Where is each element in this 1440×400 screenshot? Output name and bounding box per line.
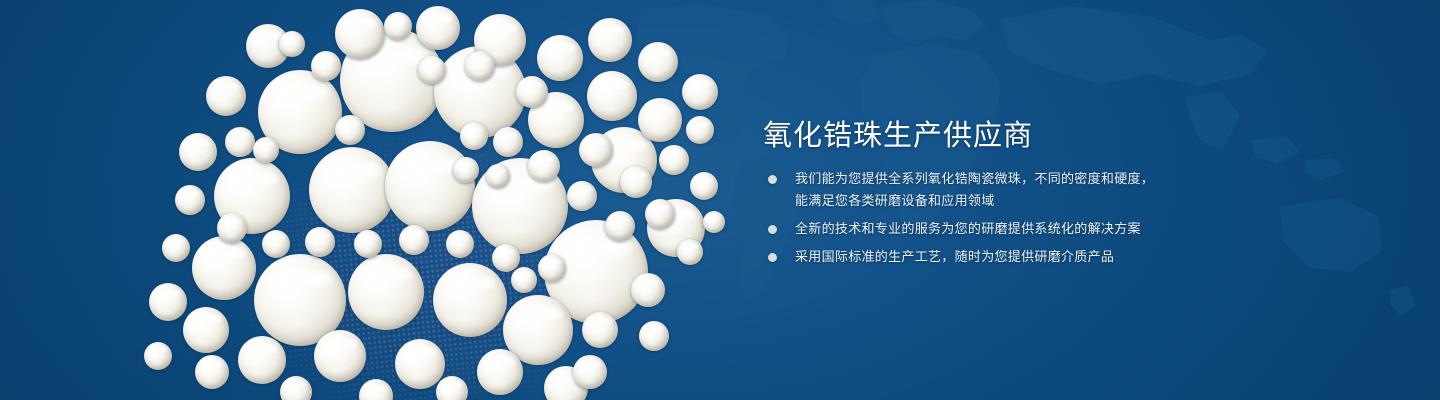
ceramic-bead xyxy=(639,321,669,351)
ceramic-bead xyxy=(280,376,312,400)
ceramic-bead xyxy=(486,164,510,188)
ceramic-bead xyxy=(690,172,718,200)
ceramic-bead xyxy=(144,342,172,370)
ceramic-bead xyxy=(579,133,613,167)
ceramic-bead xyxy=(677,239,703,265)
ceramic-bead xyxy=(175,185,205,215)
ceramic-bead xyxy=(638,42,678,82)
ceramic-bead xyxy=(465,51,495,81)
zirconia-bead-cluster-image xyxy=(0,0,760,400)
ceramic-bead xyxy=(477,349,523,395)
ceramic-bead xyxy=(385,141,475,231)
ceramic-bead xyxy=(511,267,537,293)
ceramic-bead xyxy=(262,230,290,258)
ceramic-bead xyxy=(436,376,468,400)
ceramic-bead xyxy=(314,330,366,382)
list-item: 全新的技术和专业的服务为您的研磨提供系统化的解决方案 xyxy=(768,218,1154,240)
ceramic-bead xyxy=(537,35,583,81)
ceramic-bead xyxy=(645,199,675,229)
ceramic-bead xyxy=(309,147,395,233)
ceramic-bead xyxy=(516,76,548,108)
bullet-line-primary: 我们能为您提供全系列氧化锆陶瓷微珠，不同的密度和硬度， xyxy=(795,168,1154,190)
ceramic-bead xyxy=(348,254,424,330)
ceramic-bead xyxy=(582,312,618,348)
ceramic-bead xyxy=(446,230,474,258)
ceramic-bead xyxy=(384,12,412,40)
product-hero-banner: 氧化锆珠生产供应商 我们能为您提供全系列氧化锆陶瓷微珠，不同的密度和硬度， 能满… xyxy=(0,0,1440,400)
ceramic-bead xyxy=(528,150,560,182)
ceramic-bead xyxy=(659,145,689,175)
ceramic-bead xyxy=(493,127,523,157)
ceramic-bead xyxy=(620,166,652,198)
list-item: 我们能为您提供全系列氧化锆陶瓷微珠，不同的密度和硬度， 能满足您各类研磨设备和应… xyxy=(768,168,1154,212)
ceramic-bead xyxy=(433,263,507,337)
bullet-dot-icon xyxy=(768,175,777,184)
ceramic-bead xyxy=(225,127,255,157)
ceramic-bead xyxy=(631,273,665,307)
ceramic-bead xyxy=(453,157,479,183)
ceramic-bead xyxy=(183,307,229,353)
ceramic-bead xyxy=(538,254,566,282)
ceramic-bead xyxy=(416,6,460,50)
ceramic-bead xyxy=(206,76,246,116)
ceramic-bead xyxy=(217,213,247,243)
ceramic-bead xyxy=(399,225,429,255)
ceramic-bead xyxy=(492,244,520,272)
ceramic-bead xyxy=(686,116,714,144)
ceramic-bead xyxy=(460,122,488,150)
ceramic-bead xyxy=(395,339,445,389)
ceramic-bead xyxy=(567,181,597,211)
bullet-line-primary: 采用国际标准的生产工艺，随时为您提供研磨介质产品 xyxy=(795,246,1154,268)
ceramic-bead xyxy=(192,236,256,300)
ceramic-bead xyxy=(335,115,365,145)
ceramic-bead xyxy=(238,336,286,384)
bullet-line-secondary: 能满足您各类研磨设备和应用领域 xyxy=(795,190,1154,212)
feature-bullet-list: 我们能为您提供全系列氧化锆陶瓷微珠，不同的密度和硬度， 能满足您各类研磨设备和应… xyxy=(768,168,1154,268)
bullet-dot-icon xyxy=(768,253,777,262)
ceramic-bead xyxy=(418,56,446,84)
ceramic-bead xyxy=(354,230,382,258)
page-title: 氧化锆珠生产供应商 xyxy=(763,112,1033,154)
bullet-dot-icon xyxy=(768,225,777,234)
ceramic-bead xyxy=(638,98,682,142)
ceramic-bead xyxy=(335,9,385,59)
list-item: 采用国际标准的生产工艺，随时为您提供研磨介质产品 xyxy=(768,246,1154,268)
ceramic-bead xyxy=(305,227,335,257)
ceramic-bead xyxy=(359,379,393,400)
ceramic-bead xyxy=(588,18,632,62)
ceramic-bead xyxy=(149,283,187,321)
ceramic-bead xyxy=(253,137,279,163)
ceramic-bead xyxy=(179,133,217,171)
ceramic-bead xyxy=(605,211,635,241)
ceramic-bead xyxy=(162,234,190,262)
ceramic-bead xyxy=(587,71,637,121)
ceramic-bead xyxy=(311,51,341,81)
ceramic-bead xyxy=(279,31,305,57)
ceramic-bead xyxy=(573,355,607,389)
ceramic-bead xyxy=(195,355,229,389)
banner-content: 氧化锆珠生产供应商 我们能为您提供全系列氧化锆陶瓷微珠，不同的密度和硬度， 能满… xyxy=(763,0,1363,400)
bullet-line-primary: 全新的技术和专业的服务为您的研磨提供系统化的解决方案 xyxy=(795,218,1154,240)
ceramic-bead xyxy=(703,211,725,233)
ceramic-bead xyxy=(682,74,718,110)
